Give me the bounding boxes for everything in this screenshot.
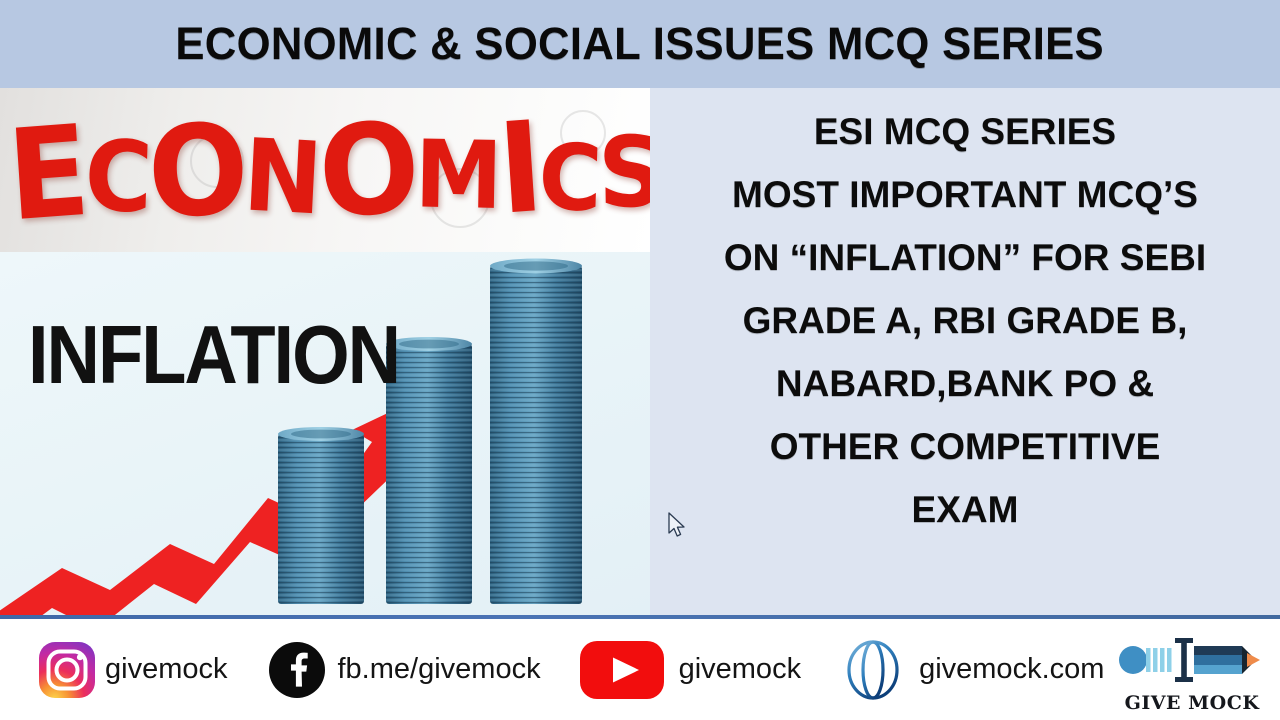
left-image-column: ECONOMICS	[0, 88, 650, 617]
economics-letter: C	[83, 119, 150, 235]
coin-stack-large	[490, 259, 582, 605]
headline-line-3: ON “INFLATION” FOR SEBI	[724, 226, 1206, 289]
headline-panel: ESI MCQ SERIES MOST IMPORTANT MCQ’S ON “…	[650, 88, 1280, 617]
social-link-youtube[interactable]: givemock	[579, 619, 802, 720]
headline-line-2: MOST IMPORTANT MCQ’S	[732, 163, 1198, 226]
page-title: ECONOMIC & SOCIAL ISSUES MCQ SERIES	[176, 18, 1105, 70]
headline-line-1: ESI MCQ SERIES	[814, 100, 1116, 163]
rising-arrow-icon	[0, 392, 432, 617]
pencil-logo-icon[interactable]	[1116, 624, 1268, 696]
economics-caption: ECONOMICS	[8, 88, 642, 252]
social-footer: givemock fb.me/givemock givemock	[0, 619, 1280, 720]
brand-logo[interactable]: GIVE MOCK	[1116, 624, 1268, 716]
economics-letter: E	[3, 97, 89, 249]
inflation-caption: INFLATION	[28, 307, 399, 402]
brand-logo-text: GIVE MOCK	[1116, 692, 1268, 714]
economics-letter: O	[146, 96, 247, 246]
facebook-icon[interactable]	[268, 641, 326, 699]
economics-letter: C	[537, 124, 600, 232]
social-link-facebook[interactable]: fb.me/givemock	[268, 619, 541, 720]
headline-line-6: OTHER COMPETITIVE	[770, 415, 1161, 478]
economics-letter: M	[414, 119, 499, 230]
headline-line-5: NABARD,BANK PO &	[776, 352, 1154, 415]
headline-line-4: GRADE A, RBI GRADE B,	[743, 289, 1188, 352]
globe-icon[interactable]	[841, 638, 905, 702]
social-link-instagram[interactable]: givemock	[38, 619, 228, 720]
social-link-website[interactable]: givemock.com	[841, 619, 1104, 720]
economics-letter: I	[494, 93, 543, 242]
economics-letter: O	[316, 94, 419, 245]
header-bar: ECONOMIC & SOCIAL ISSUES MCQ SERIES	[0, 0, 1280, 88]
inflation-image: INFLATION	[0, 252, 650, 617]
youtube-icon[interactable]	[579, 640, 665, 700]
economics-image: ECONOMICS	[0, 88, 650, 252]
social-label-youtube: givemock	[679, 653, 802, 686]
social-label-instagram: givemock	[105, 653, 228, 686]
slide-body: ECONOMICS	[0, 88, 1280, 617]
social-label-website: givemock.com	[919, 653, 1104, 686]
instagram-icon[interactable]	[38, 641, 96, 699]
headline-line-7: EXAM	[912, 478, 1019, 541]
economics-letter: S	[597, 115, 650, 230]
economics-letter: N	[241, 118, 321, 238]
social-label-facebook: fb.me/givemock	[338, 653, 541, 686]
slide-canvas: ECONOMIC & SOCIAL ISSUES MCQ SERIES ECON…	[0, 0, 1280, 720]
coin-stack-small	[278, 427, 364, 604]
